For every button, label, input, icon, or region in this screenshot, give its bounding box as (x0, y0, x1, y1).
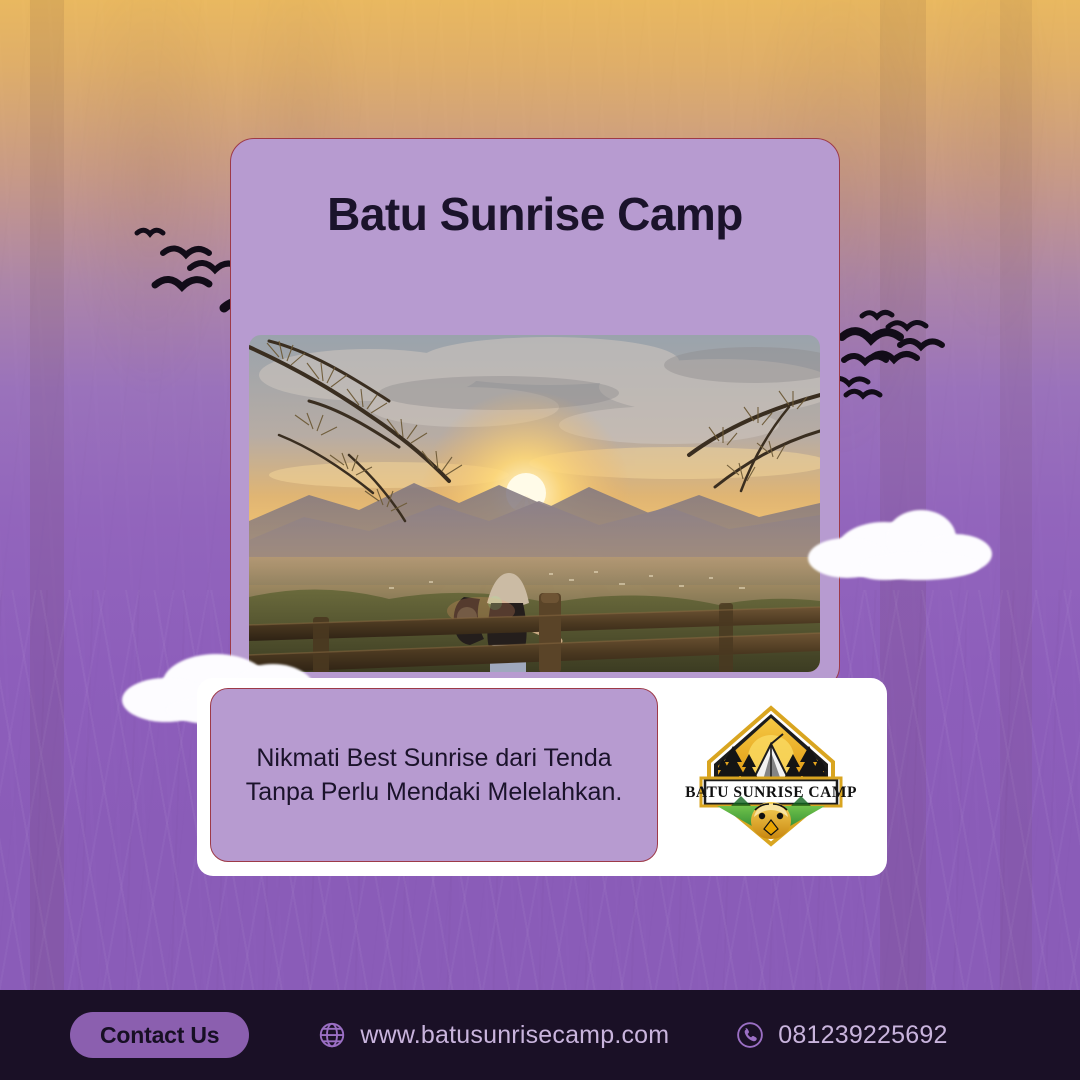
footer-bar: Contact Us www.batusunrisecamp.com 08123… (0, 990, 1080, 1080)
phone-link[interactable]: 081239225692 (735, 1020, 947, 1050)
hero-photo (249, 335, 820, 672)
website-text: www.batusunrisecamp.com (360, 1021, 669, 1050)
globe-icon (317, 1020, 347, 1050)
logo-banner-text: BATU SUNRISE CAMP (685, 784, 857, 801)
website-link[interactable]: www.batusunrisecamp.com (317, 1020, 669, 1050)
sunrise-scene-illustration (249, 335, 820, 672)
batu-sunrise-camp-logo-icon: BATU SUNRISE CAMP (683, 700, 859, 852)
phone-icon (735, 1020, 765, 1050)
contact-us-button[interactable]: Contact Us (70, 1012, 249, 1058)
phone-text: 081239225692 (778, 1021, 947, 1050)
tagline-text: Nikmati Best Sunrise dari Tenda Tanpa Pe… (229, 741, 639, 809)
tagline-box: Nikmati Best Sunrise dari Tenda Tanpa Pe… (210, 688, 658, 862)
page-title: Batu Sunrise Camp (231, 187, 839, 241)
brand-logo: BATU SUNRISE CAMP (683, 700, 859, 852)
contact-us-label: Contact Us (100, 1022, 219, 1049)
poster-canvas: Batu Sunrise Camp (0, 0, 1080, 1080)
